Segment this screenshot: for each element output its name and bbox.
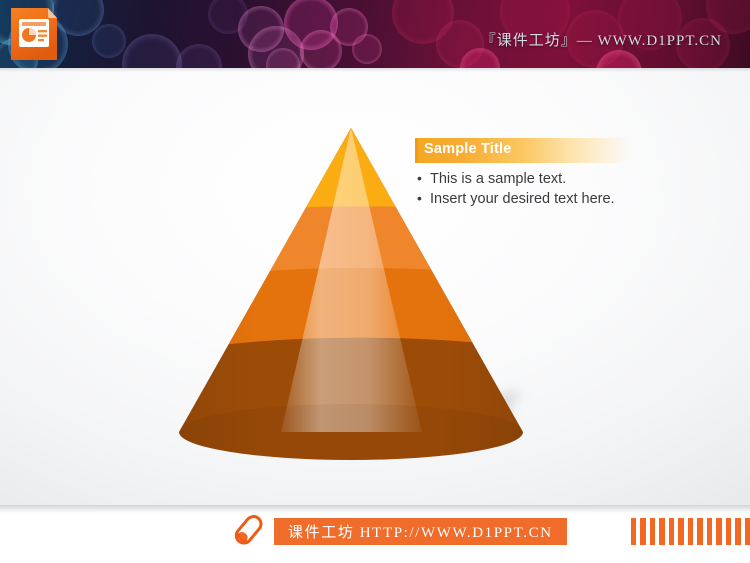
footer-stripe bbox=[707, 518, 712, 545]
footer-stripe bbox=[678, 518, 683, 545]
bokeh-circle bbox=[352, 34, 382, 64]
footer-stripe bbox=[726, 518, 731, 545]
pencil-icon bbox=[228, 511, 266, 551]
bokeh-circle bbox=[122, 34, 182, 68]
bokeh-circle bbox=[176, 44, 222, 68]
bokeh-circle bbox=[208, 0, 248, 34]
bokeh-circle bbox=[300, 30, 342, 68]
footer-stripes bbox=[631, 518, 750, 545]
footer-stripe bbox=[650, 518, 655, 545]
bokeh-circle bbox=[92, 24, 126, 58]
powerpoint-document-icon[interactable] bbox=[8, 6, 60, 62]
header-banner: 『课件工坊』— WWW.D1PPT.CN bbox=[0, 0, 750, 68]
footer-stripe bbox=[631, 518, 636, 545]
slide-body: Sample Title This is a sample text. Inse… bbox=[0, 68, 750, 505]
bokeh-circle bbox=[284, 0, 338, 50]
footer-stripe bbox=[716, 518, 721, 545]
bokeh-circle bbox=[266, 48, 300, 68]
bokeh-circle bbox=[238, 6, 284, 52]
page-title: Sample Title bbox=[424, 141, 512, 157]
bullet-list: This is a sample text. Insert your desir… bbox=[415, 170, 630, 209]
header-title: 『课件工坊』— WWW.D1PPT.CN bbox=[481, 29, 722, 50]
footer-stripe bbox=[697, 518, 702, 545]
bokeh-circle bbox=[596, 50, 642, 68]
list-item: Insert your desired text here. bbox=[415, 190, 630, 209]
footer-stripe bbox=[745, 518, 750, 545]
title-bar: Sample Title bbox=[415, 138, 630, 163]
footer-stripe bbox=[669, 518, 674, 545]
bokeh-circle bbox=[248, 26, 304, 68]
footer-url-bar[interactable]: 课件工坊 HTTP://WWW.D1PPT.CN bbox=[274, 518, 567, 545]
footer-stripe bbox=[659, 518, 664, 545]
bokeh-circle bbox=[460, 48, 500, 68]
slide-canvas: 『课件工坊』— WWW.D1PPT.CN bbox=[0, 0, 750, 563]
bokeh-circle bbox=[330, 8, 368, 46]
text-block: Sample Title This is a sample text. Inse… bbox=[415, 138, 630, 210]
list-item: This is a sample text. bbox=[415, 170, 630, 189]
bokeh-circle bbox=[436, 20, 484, 68]
footer-text: 课件工坊 HTTP://WWW.D1PPT.CN bbox=[288, 521, 553, 542]
footer-stripe bbox=[735, 518, 740, 545]
footer-divider bbox=[0, 505, 750, 513]
bokeh-circle bbox=[392, 0, 454, 44]
footer-stripe bbox=[688, 518, 693, 545]
footer-stripe bbox=[640, 518, 645, 545]
